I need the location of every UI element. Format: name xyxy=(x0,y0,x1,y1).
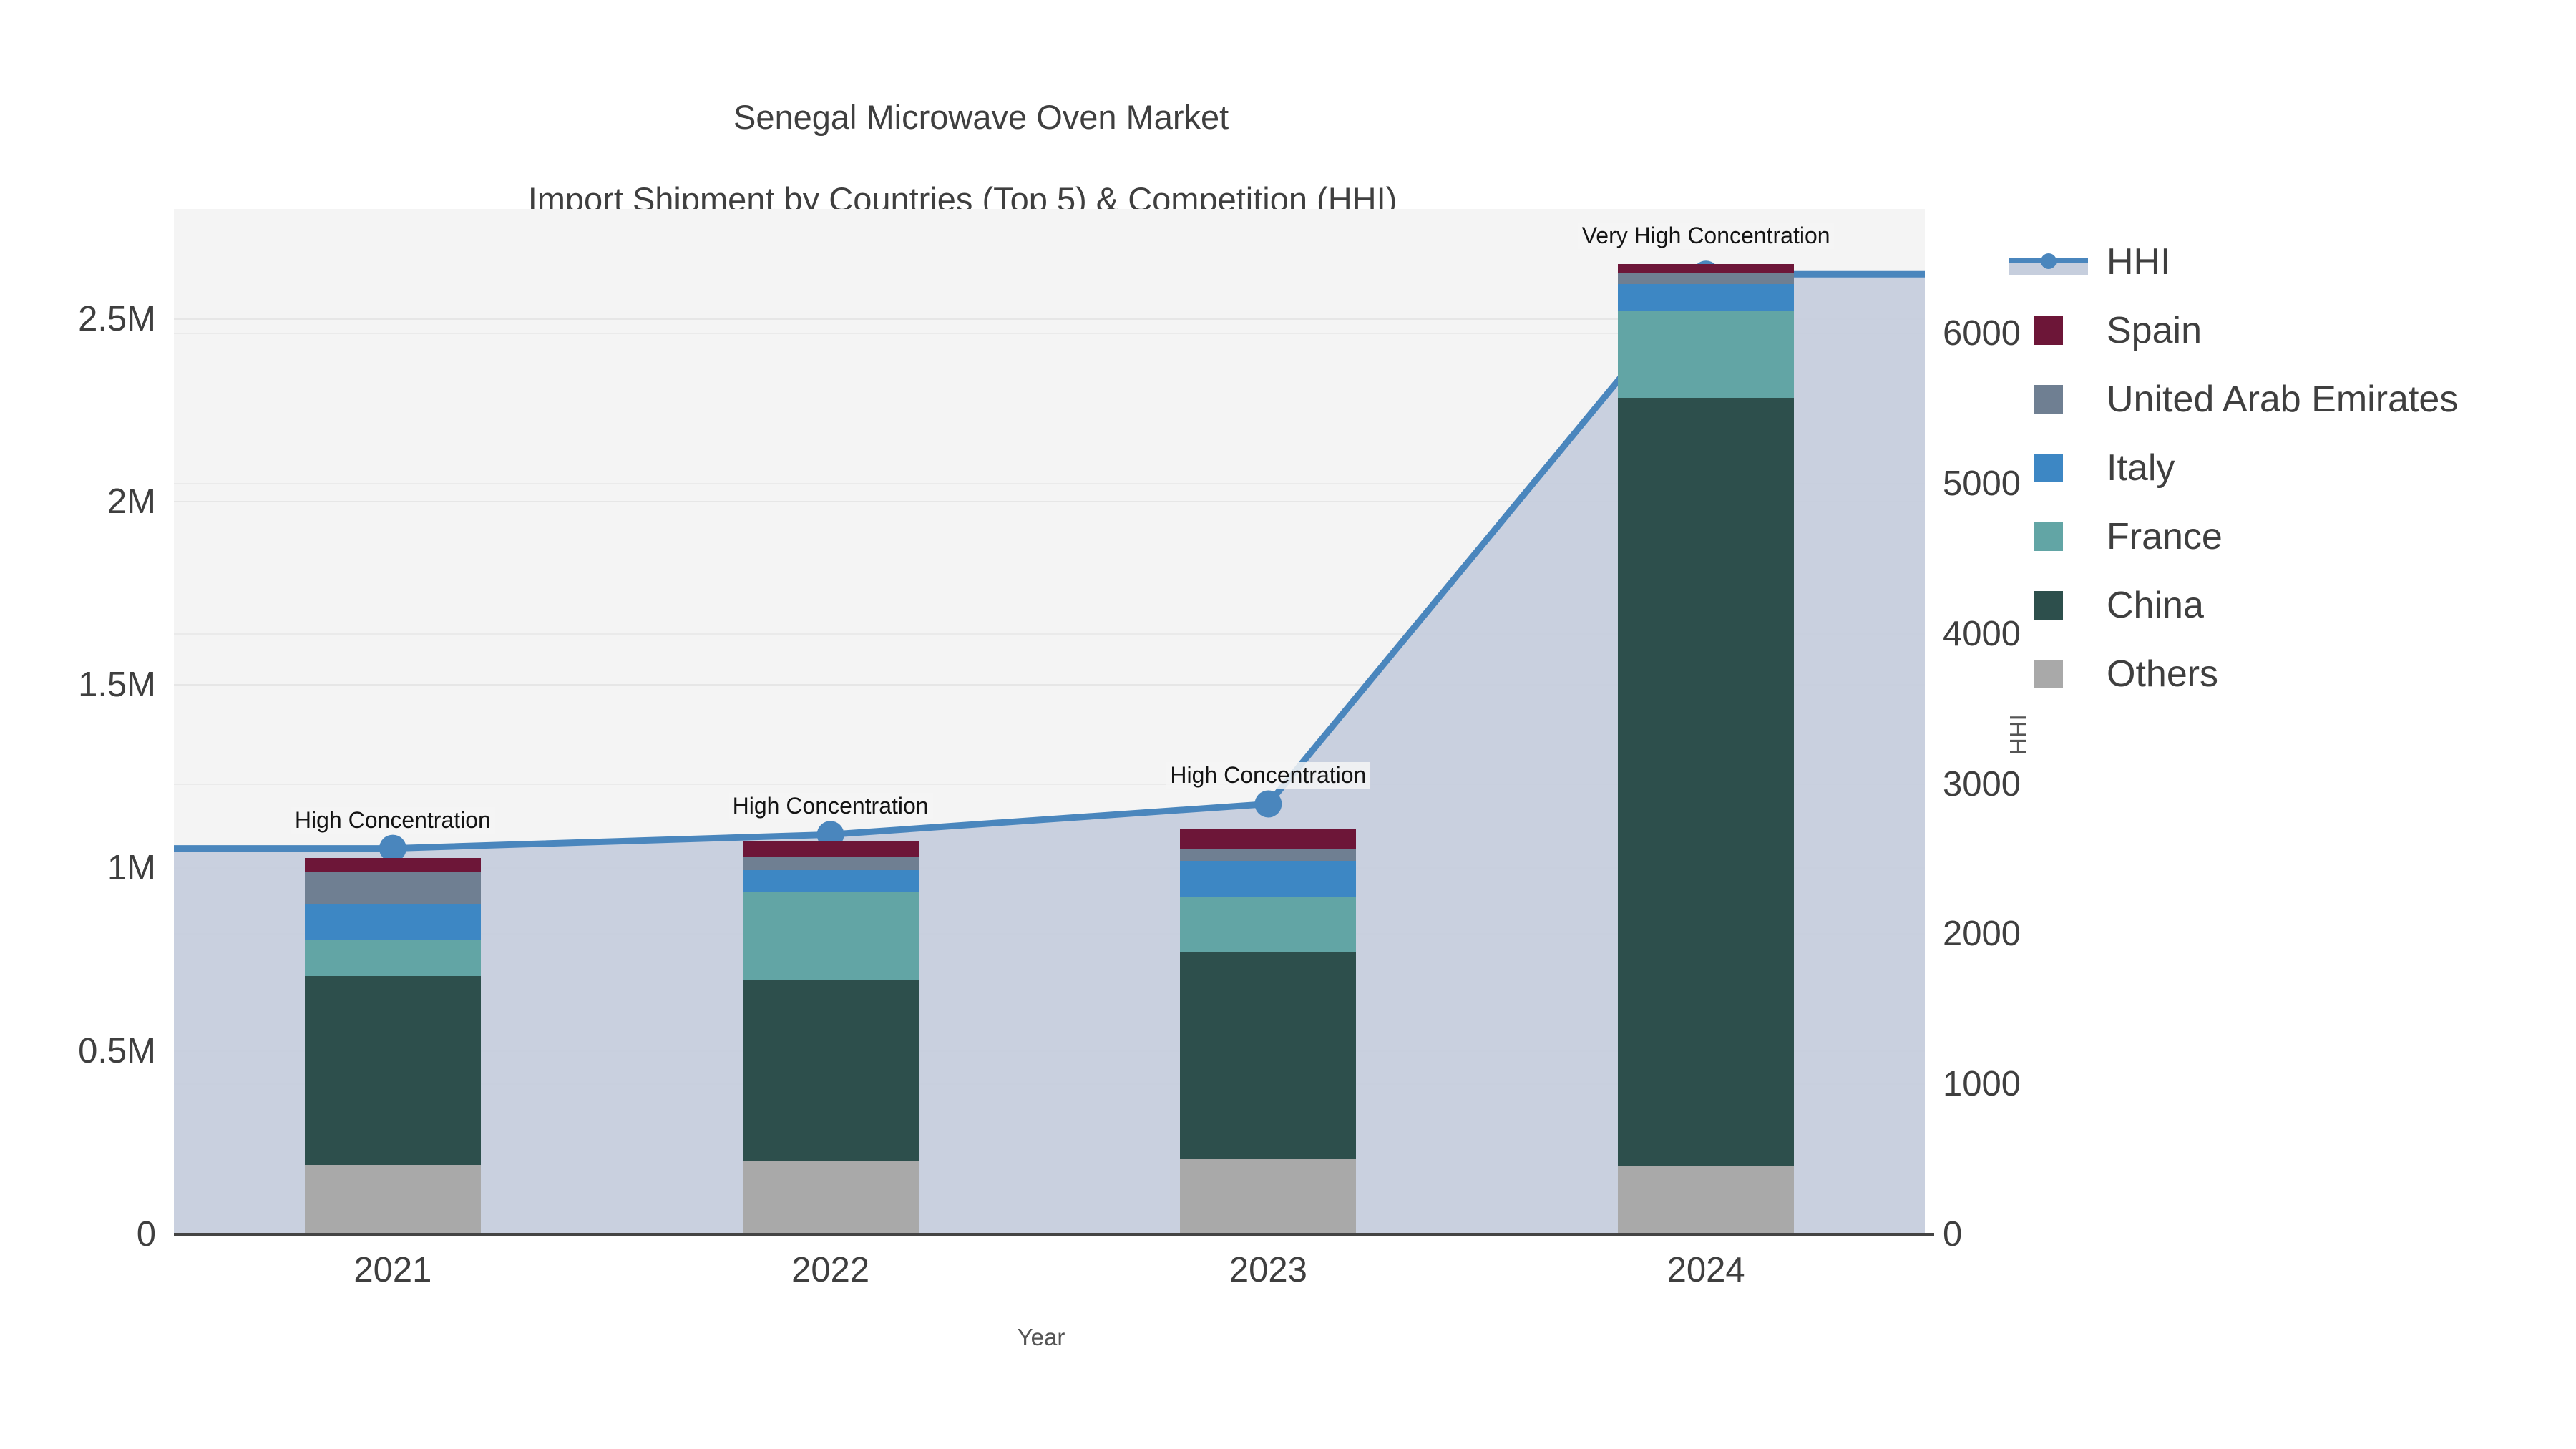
y-axis-right-ticks: 0100020003000400050006000 xyxy=(1943,0,2129,1449)
bar-segment-others-2023[interactable] xyxy=(1180,1159,1356,1234)
bar-segment-spain-2022[interactable] xyxy=(743,841,919,857)
concentration-annotation-2021: High Concentration xyxy=(291,807,495,834)
bar-segment-others-2024[interactable] xyxy=(1618,1166,1794,1234)
concentration-annotation-2022: High Concentration xyxy=(728,793,933,819)
x-axis-line xyxy=(174,1233,1934,1236)
x-tick-2023: 2023 xyxy=(1229,1250,1307,1290)
bar-segment-italy-2021[interactable] xyxy=(305,904,481,940)
legend-item-china[interactable]: China xyxy=(2004,571,2458,640)
legend-swatch-icon xyxy=(2004,591,2094,620)
bar-segment-united-arab-emirates-2022[interactable] xyxy=(743,857,919,870)
bar-segment-united-arab-emirates-2023[interactable] xyxy=(1180,849,1356,861)
x-axis-title: Year xyxy=(1018,1324,1065,1351)
bar-segment-italy-2024[interactable] xyxy=(1618,284,1794,311)
y-tick-right-1000: 1000 xyxy=(1943,1064,2021,1104)
y-axis-right-title: HHI xyxy=(2005,714,2032,755)
legend-item-spain[interactable]: Spain xyxy=(2004,296,2458,365)
bar-segment-spain-2023[interactable] xyxy=(1180,829,1356,849)
bar-segment-others-2022[interactable] xyxy=(743,1161,919,1234)
legend-label: Spain xyxy=(2107,309,2202,352)
bar-segment-others-2021[interactable] xyxy=(305,1165,481,1234)
color-swatch xyxy=(2034,454,2063,482)
legend-item-france[interactable]: France xyxy=(2004,502,2458,571)
hhi-key-glyph xyxy=(2004,248,2094,276)
bar-segment-spain-2021[interactable] xyxy=(305,858,481,872)
bar-segment-china-2022[interactable] xyxy=(743,980,919,1161)
bar-segment-united-arab-emirates-2021[interactable] xyxy=(305,872,481,904)
legend-swatch-icon xyxy=(2004,522,2094,551)
chart-canvas: Senegal Microwave Oven Market Import Shi… xyxy=(0,0,2576,1449)
legend-label: China xyxy=(2107,584,2204,627)
color-swatch xyxy=(2034,591,2063,620)
bar-segment-italy-2022[interactable] xyxy=(743,870,919,892)
y-tick-right-0: 0 xyxy=(1943,1214,1962,1254)
legend-label: France xyxy=(2107,515,2223,558)
bar-segment-france-2023[interactable] xyxy=(1180,897,1356,952)
legend-label: United Arab Emirates xyxy=(2107,378,2458,421)
color-swatch xyxy=(2034,522,2063,551)
color-swatch xyxy=(2034,316,2063,345)
concentration-annotation-2023: High Concentration xyxy=(1166,762,1370,789)
concentration-annotation-2024: Very High Concentration xyxy=(1578,223,1835,249)
legend-swatch-icon xyxy=(2004,454,2094,482)
legend-swatch-icon xyxy=(2004,316,2094,345)
bar-segment-china-2021[interactable] xyxy=(305,976,481,1165)
y-tick-right-3000: 3000 xyxy=(1943,764,2021,804)
bar-segment-france-2024[interactable] xyxy=(1618,311,1794,397)
bar-segment-france-2022[interactable] xyxy=(743,892,919,980)
legend-swatch-icon xyxy=(2004,385,2094,414)
bar-segment-italy-2023[interactable] xyxy=(1180,861,1356,897)
y-tick-left-1.5M: 1.5M xyxy=(78,665,156,705)
hhi-line-marker-icon xyxy=(2004,248,2094,276)
x-tick-2024: 2024 xyxy=(1667,1250,1745,1290)
bar-segment-china-2023[interactable] xyxy=(1180,952,1356,1159)
legend-label: Italy xyxy=(2107,447,2175,489)
hhi-marker-2023[interactable] xyxy=(1254,791,1282,818)
legend-swatch-icon xyxy=(2004,660,2094,688)
y-axis-left-ticks: 00.5M1M1.5M2M2.5M xyxy=(0,0,156,1449)
y-tick-right-2000: 2000 xyxy=(1943,914,2021,954)
legend-item-italy[interactable]: Italy xyxy=(2004,434,2458,502)
y-tick-left-1M: 1M xyxy=(107,848,156,888)
legend-item-others[interactable]: Others xyxy=(2004,640,2458,708)
legend-label: HHI xyxy=(2107,240,2171,283)
hhi-key-dot xyxy=(2041,253,2057,269)
color-swatch xyxy=(2034,385,2063,414)
x-tick-2021: 2021 xyxy=(353,1250,431,1290)
legend-label: Others xyxy=(2107,653,2218,696)
y-tick-left-2.5M: 2.5M xyxy=(78,299,156,339)
chart-title-line1: Senegal Microwave Oven Market xyxy=(733,98,1229,136)
bar-segment-spain-2024[interactable] xyxy=(1618,264,1794,273)
bar-segment-china-2024[interactable] xyxy=(1618,398,1794,1167)
plot-area: High ConcentrationHigh ConcentrationHigh… xyxy=(174,209,1925,1234)
x-tick-2022: 2022 xyxy=(791,1250,869,1290)
legend-item-united-arab-emirates[interactable]: United Arab Emirates xyxy=(2004,365,2458,434)
y-tick-left-0: 0 xyxy=(137,1214,156,1254)
bar-segment-united-arab-emirates-2024[interactable] xyxy=(1618,273,1794,284)
legend-item-hhi[interactable]: HHI xyxy=(2004,228,2458,296)
y-tick-left-2M: 2M xyxy=(107,482,156,522)
color-swatch xyxy=(2034,660,2063,688)
y-tick-left-0.5M: 0.5M xyxy=(78,1031,156,1071)
bar-segment-france-2021[interactable] xyxy=(305,940,481,976)
legend: HHISpainUnited Arab EmiratesItalyFranceC… xyxy=(2004,228,2458,708)
